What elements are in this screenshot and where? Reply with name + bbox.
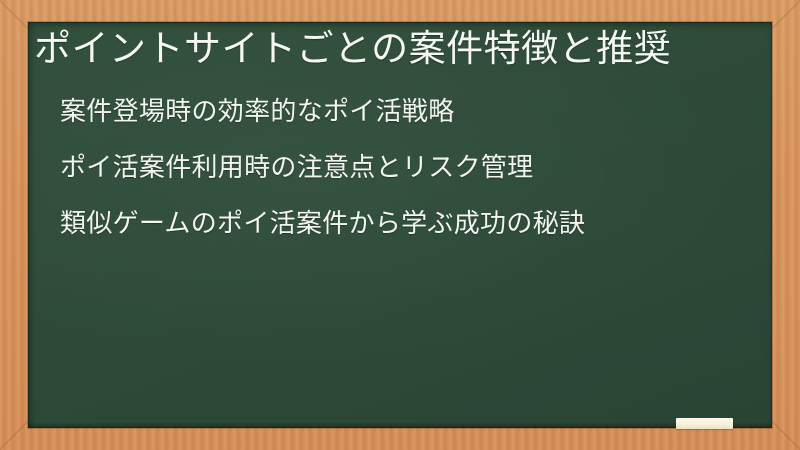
slide-title: ポイントサイトごとの案件特徴と推奨	[34, 28, 764, 69]
chalk-stick-icon	[676, 418, 733, 429]
list-item: 案件登場時の効率的なポイ活戦略	[60, 98, 750, 127]
list-item: 類似ゲームのポイ活案件から学ぶ成功の秘訣	[60, 210, 750, 239]
bullet-list: 案件登場時の効率的なポイ活戦略 ポイ活案件利用時の注意点とリスク管理 類似ゲーム…	[60, 98, 750, 239]
list-item: ポイ活案件利用時の注意点とリスク管理	[60, 154, 750, 183]
blackboard-slide: ポイントサイトごとの案件特徴と推奨 案件登場時の効率的なポイ活戦略 ポイ活案件利…	[0, 0, 800, 450]
chalkboard-surface: ポイントサイトごとの案件特徴と推奨 案件登場時の効率的なポイ活戦略 ポイ活案件利…	[28, 22, 772, 428]
